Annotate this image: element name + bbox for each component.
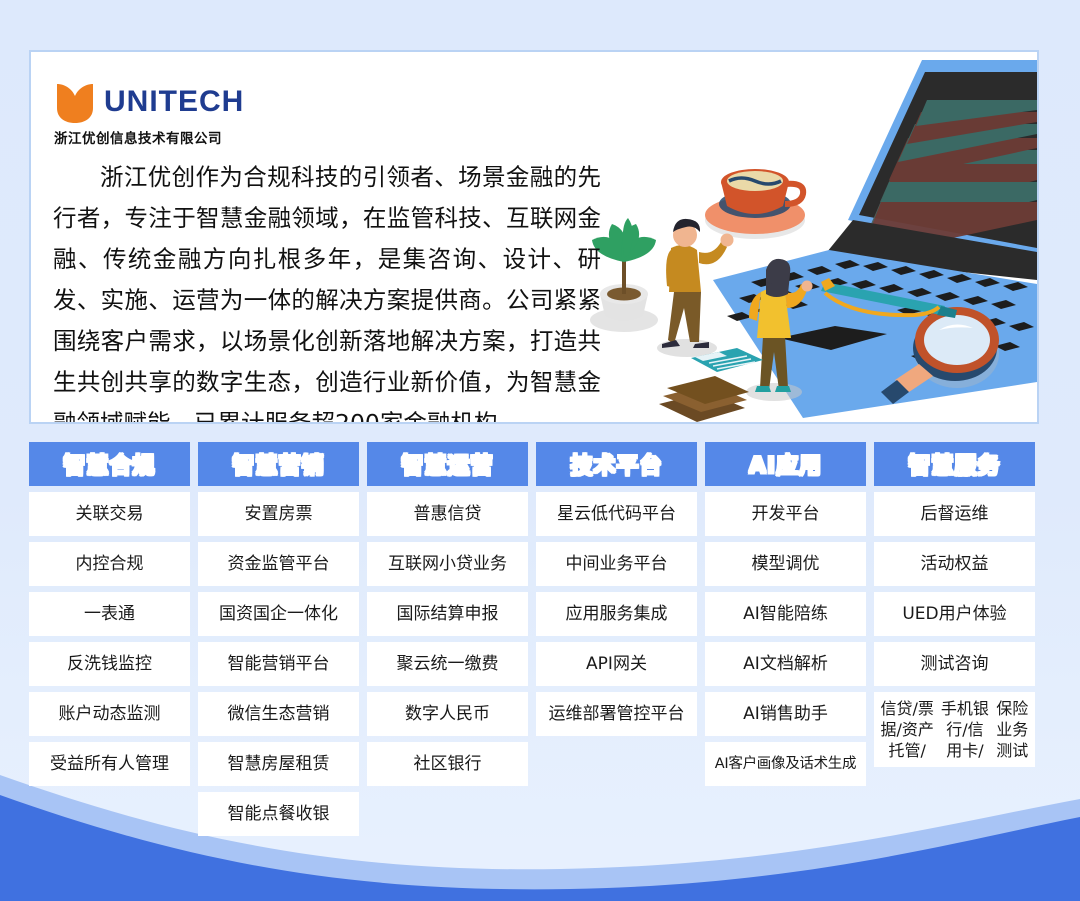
capability-item[interactable]: 数字人民币: [367, 692, 528, 736]
capability-item[interactable]: AI销售助手: [705, 692, 866, 736]
capability-column: 智慧运营普惠信贷互联网小贷业务国际结算申报聚云统一缴费数字人民币社区银行: [367, 442, 528, 786]
logo-subtitle: 浙江优创信息技术有限公司: [54, 127, 244, 147]
capability-item[interactable]: 账户动态监测: [29, 692, 190, 736]
capability-item[interactable]: 内控合规: [29, 542, 190, 586]
capability-column: 智慧服务后督运维活动权益UED用户体验测试咨询信贷/票据/资产托管/手机银行/信…: [874, 442, 1035, 767]
column-header-5[interactable]: 智慧服务: [874, 442, 1035, 486]
capability-item[interactable]: 反洗钱监控: [29, 642, 190, 686]
capability-item[interactable]: 聚云统一缴费: [367, 642, 528, 686]
isometric-laptop-workspace-illustration: [567, 52, 1037, 422]
capability-item[interactable]: 应用服务集成: [536, 592, 697, 636]
column-header-3[interactable]: 技术平台: [536, 442, 697, 486]
capability-item-line: 信贷/票据/资产托管/: [876, 698, 938, 761]
logo-wordmark: UNITECH: [104, 87, 244, 117]
column-header-1[interactable]: 智慧营销: [198, 442, 359, 486]
capability-item[interactable]: UED用户体验: [874, 592, 1035, 636]
capability-column: 智慧营销安置房票资金监管平台国资国企一体化智能营销平台微信生态营销智慧房屋租赁智…: [198, 442, 359, 836]
capability-item[interactable]: AI智能陪练: [705, 592, 866, 636]
capability-item[interactable]: 普惠信贷: [367, 492, 528, 536]
capability-item[interactable]: 活动权益: [874, 542, 1035, 586]
capability-item[interactable]: 一表通: [29, 592, 190, 636]
capability-item-line: 保险业务测试: [991, 698, 1033, 761]
capability-item[interactable]: 国资国企一体化: [198, 592, 359, 636]
column-header-0[interactable]: 智慧合规: [29, 442, 190, 486]
capability-item[interactable]: 互联网小贷业务: [367, 542, 528, 586]
capability-item[interactable]: 智能点餐收银: [198, 792, 359, 836]
column-header-4[interactable]: AI应用: [705, 442, 866, 486]
capability-item[interactable]: 受益所有人管理: [29, 742, 190, 786]
capability-item[interactable]: 微信生态营销: [198, 692, 359, 736]
capability-item[interactable]: 资金监管平台: [198, 542, 359, 586]
capability-item[interactable]: 智能营销平台: [198, 642, 359, 686]
capability-item[interactable]: 智慧房屋租赁: [198, 742, 359, 786]
column-header-2[interactable]: 智慧运营: [367, 442, 528, 486]
capability-item[interactable]: 测试咨询: [874, 642, 1035, 686]
tulip-logo-icon: [54, 80, 96, 124]
capability-item-line: 手机银行/信用卡/: [938, 698, 991, 761]
capability-item[interactable]: 运维部署管控平台: [536, 692, 697, 736]
capability-item[interactable]: 后督运维: [874, 492, 1035, 536]
company-logo: UNITECH 浙江优创信息技术有限公司: [54, 80, 244, 147]
capability-item[interactable]: 信贷/票据/资产托管/手机银行/信用卡/保险业务测试: [874, 692, 1035, 767]
capability-item[interactable]: 关联交易: [29, 492, 190, 536]
capability-item[interactable]: 中间业务平台: [536, 542, 697, 586]
capability-item[interactable]: 国际结算申报: [367, 592, 528, 636]
capability-item[interactable]: 安置房票: [198, 492, 359, 536]
company-intro-card: UNITECH 浙江优创信息技术有限公司 浙江优创作为合规科技的引领者、场景金融…: [29, 50, 1039, 424]
capability-item[interactable]: 星云低代码平台: [536, 492, 697, 536]
capability-item[interactable]: API网关: [536, 642, 697, 686]
capability-column: 技术平台星云低代码平台中间业务平台应用服务集成API网关运维部署管控平台: [536, 442, 697, 736]
capability-column: 智慧合规关联交易内控合规一表通反洗钱监控账户动态监测受益所有人管理: [29, 442, 190, 786]
capability-item[interactable]: 社区银行: [367, 742, 528, 786]
capability-item[interactable]: AI文档解析: [705, 642, 866, 686]
company-intro-paragraph: 浙江优创作为合规科技的引领者、场景金融的先行者，专注于智慧金融领域，在监管科技、…: [53, 157, 601, 424]
capability-grid: 智慧合规关联交易内控合规一表通反洗钱监控账户动态监测受益所有人管理智慧营销安置房…: [29, 442, 1051, 836]
capability-column: AI应用开发平台模型调优AI智能陪练AI文档解析AI销售助手AI客户画像及话术生…: [705, 442, 866, 786]
capability-item[interactable]: 模型调优: [705, 542, 866, 586]
capability-item[interactable]: AI客户画像及话术生成: [705, 742, 866, 786]
capability-item[interactable]: 开发平台: [705, 492, 866, 536]
